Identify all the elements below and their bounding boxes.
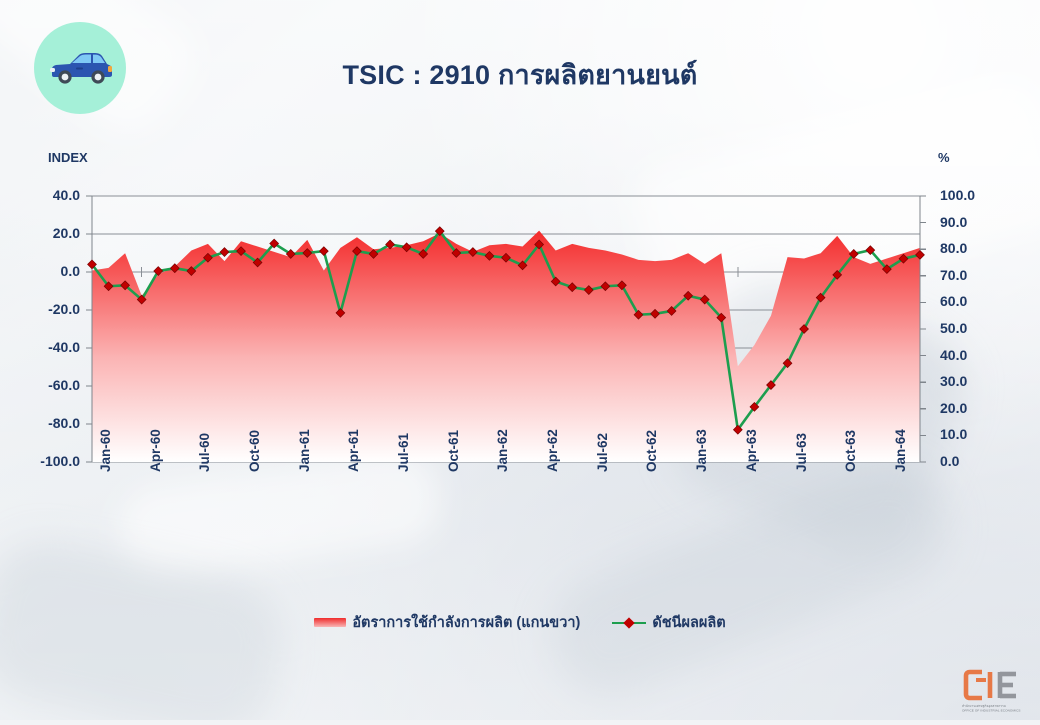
x-axis-tick-label: Jan-62 [495,429,510,472]
y2-axis-tick-label: 50.0 [940,320,967,336]
y-axis-tick-label: -100.0 [40,453,80,469]
x-axis-tick-label: Oct-63 [843,430,858,472]
x-axis-tick-label: Jul-62 [595,433,610,472]
x-axis-tick-label: Oct-61 [446,430,461,472]
oie-logo-icon: สำนักงานเศรษฐกิจอุตสาหกรรม OFFICE OF IND… [960,664,1030,714]
y-axis-tick-label: 0.0 [61,263,80,279]
chart-legend: อัตราการใช้กำลังการผลิต (แกนขวา) ดัชนีผล… [0,611,1040,634]
y-axis-tick-label: -60.0 [48,377,80,393]
x-axis-tick-label: Oct-62 [644,430,659,472]
x-axis-tick-label: Jan-63 [694,429,709,472]
x-axis-tick-label: Jul-60 [197,433,212,472]
y2-axis-tick-label: 30.0 [940,373,967,389]
x-axis-tick-label: Jan-60 [98,429,113,472]
x-axis-tick-label: Apr-63 [744,429,759,472]
legend-area-swatch-icon [314,618,346,627]
y2-axis-tick-label: 100.0 [940,187,975,203]
y-axis-tick-label: -80.0 [48,415,80,431]
legend-line-swatch-icon [612,618,646,628]
x-axis-tick-label: Apr-62 [545,429,560,472]
y2-axis-tick-label: 10.0 [940,426,967,442]
x-axis-tick-label: Oct-60 [247,430,262,472]
y2-axis-tick-label: 20.0 [940,400,967,416]
y2-axis-tick-label: 80.0 [940,240,967,256]
x-axis-tick-label: Jan-64 [893,429,908,472]
y-axis-tick-label: -20.0 [48,301,80,317]
y2-axis-tick-label: 70.0 [940,267,967,283]
y2-axis-tick-label: 90.0 [940,214,967,230]
oie-logo: สำนักงานเศรษฐกิจอุตสาหกรรม OFFICE OF IND… [960,664,1030,714]
x-axis-tick-label: Jan-61 [297,429,312,472]
legend-label: อัตราการใช้กำลังการผลิต (แกนขวา) [352,611,580,634]
y-axis-tick-label: 20.0 [53,225,80,241]
legend-item-capacity-utilization[interactable]: อัตราการใช้กำลังการผลิต (แกนขวา) [314,611,580,634]
x-axis-tick-label: Apr-60 [148,429,163,472]
oie-eng-caption: OFFICE OF INDUSTRIAL ECONOMICS [962,709,1021,713]
y2-axis-tick-label: 60.0 [940,293,967,309]
y2-axis-tick-label: 40.0 [940,347,967,363]
legend-item-production-index[interactable]: ดัชนีผลผลิต [612,611,725,634]
x-axis-tick-label: Jul-63 [794,433,809,472]
y-axis-tick-label: -40.0 [48,339,80,355]
x-axis-tick-label: Apr-61 [346,429,361,472]
y-axis-tick-label: 40.0 [53,187,80,203]
x-axis-tick-label: Jul-61 [396,433,411,472]
legend-label: ดัชนีผลผลิต [652,611,725,634]
y2-axis-tick-label: 0.0 [940,453,959,469]
